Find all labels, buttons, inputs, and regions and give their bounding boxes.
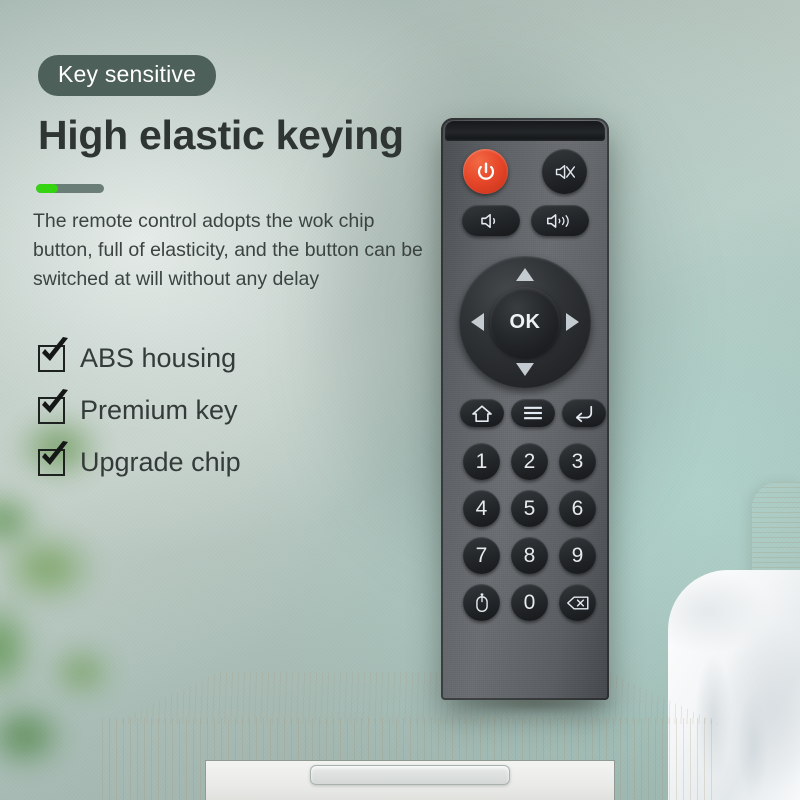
volume-up-icon — [546, 212, 574, 230]
keypad-button-6[interactable]: 6 — [559, 490, 596, 527]
power-button[interactable] — [463, 149, 508, 194]
mute-button[interactable] — [542, 149, 587, 194]
keypad-label: 5 — [524, 497, 536, 521]
check-icon — [38, 389, 72, 419]
feature-label: ABS housing — [80, 343, 236, 374]
backspace-button[interactable] — [559, 584, 596, 621]
keypad-button-7[interactable]: 7 — [463, 537, 500, 574]
keypad-label: 9 — [572, 544, 584, 568]
keypad-label: 1 — [476, 450, 488, 474]
keypad-label: 2 — [524, 450, 536, 474]
accent-progress-bar — [36, 184, 104, 193]
mouse-mode-button[interactable] — [463, 584, 500, 621]
checkbox-icon — [38, 345, 65, 372]
volume-down-button[interactable] — [462, 205, 520, 236]
down-arrow-icon[interactable] — [516, 363, 534, 376]
keypad-button-5[interactable]: 5 — [511, 490, 548, 527]
list-item: ABS housing — [38, 332, 241, 384]
keypad-button-9[interactable]: 9 — [559, 537, 596, 574]
keypad-button-4[interactable]: 4 — [463, 490, 500, 527]
check-icon — [38, 441, 72, 471]
keypad-label: 0 — [524, 591, 536, 615]
backspace-icon — [566, 595, 590, 611]
keypad-label: 3 — [572, 450, 584, 474]
keypad-button-3[interactable]: 3 — [559, 443, 596, 480]
keypad-button-0[interactable]: 0 — [511, 584, 548, 621]
home-button[interactable] — [460, 399, 504, 427]
ok-button[interactable]: OK — [490, 287, 560, 357]
power-icon — [475, 161, 497, 183]
menu-icon — [522, 405, 544, 421]
up-arrow-icon[interactable] — [516, 268, 534, 281]
mouse-icon — [475, 593, 489, 613]
product-promo-scene: Key sensitive High elastic keying The re… — [0, 0, 800, 800]
volume-down-icon — [479, 212, 503, 230]
page-title: High elastic keying — [38, 112, 404, 159]
volume-up-button[interactable] — [531, 205, 589, 236]
badge-key-sensitive: Key sensitive — [38, 55, 216, 96]
keypad-button-8[interactable]: 8 — [511, 537, 548, 574]
keypad-label: 7 — [476, 544, 488, 568]
ir-emitter-window — [445, 121, 605, 141]
checkbox-icon — [38, 449, 65, 476]
nightstand-drawer — [205, 760, 615, 800]
keypad-label: 4 — [476, 497, 488, 521]
keypad-button-1[interactable]: 1 — [463, 443, 500, 480]
keypad-button-2[interactable]: 2 — [511, 443, 548, 480]
feature-list: ABS housing Premium key Upgrade chip — [38, 332, 241, 488]
accent-progress-fill — [36, 184, 58, 193]
keypad-label: 8 — [524, 544, 536, 568]
check-icon — [38, 337, 72, 367]
remote-control-body: OK 1 2 — [441, 118, 609, 700]
keypad-label: 6 — [572, 497, 584, 521]
feature-label: Premium key — [80, 395, 238, 426]
list-item: Upgrade chip — [38, 436, 241, 488]
right-arrow-icon[interactable] — [566, 313, 579, 331]
checkbox-icon — [38, 397, 65, 424]
dpad-control[interactable]: OK — [459, 256, 591, 388]
list-item: Premium key — [38, 384, 241, 436]
menu-button[interactable] — [511, 399, 555, 427]
home-icon — [471, 404, 493, 423]
feature-label: Upgrade chip — [80, 447, 241, 478]
back-button[interactable] — [562, 399, 606, 427]
back-icon — [573, 404, 595, 423]
drawer-handle — [310, 765, 510, 785]
left-arrow-icon[interactable] — [471, 313, 484, 331]
mute-icon — [554, 162, 576, 182]
product-description: The remote control adopts the wok chip b… — [33, 207, 433, 294]
